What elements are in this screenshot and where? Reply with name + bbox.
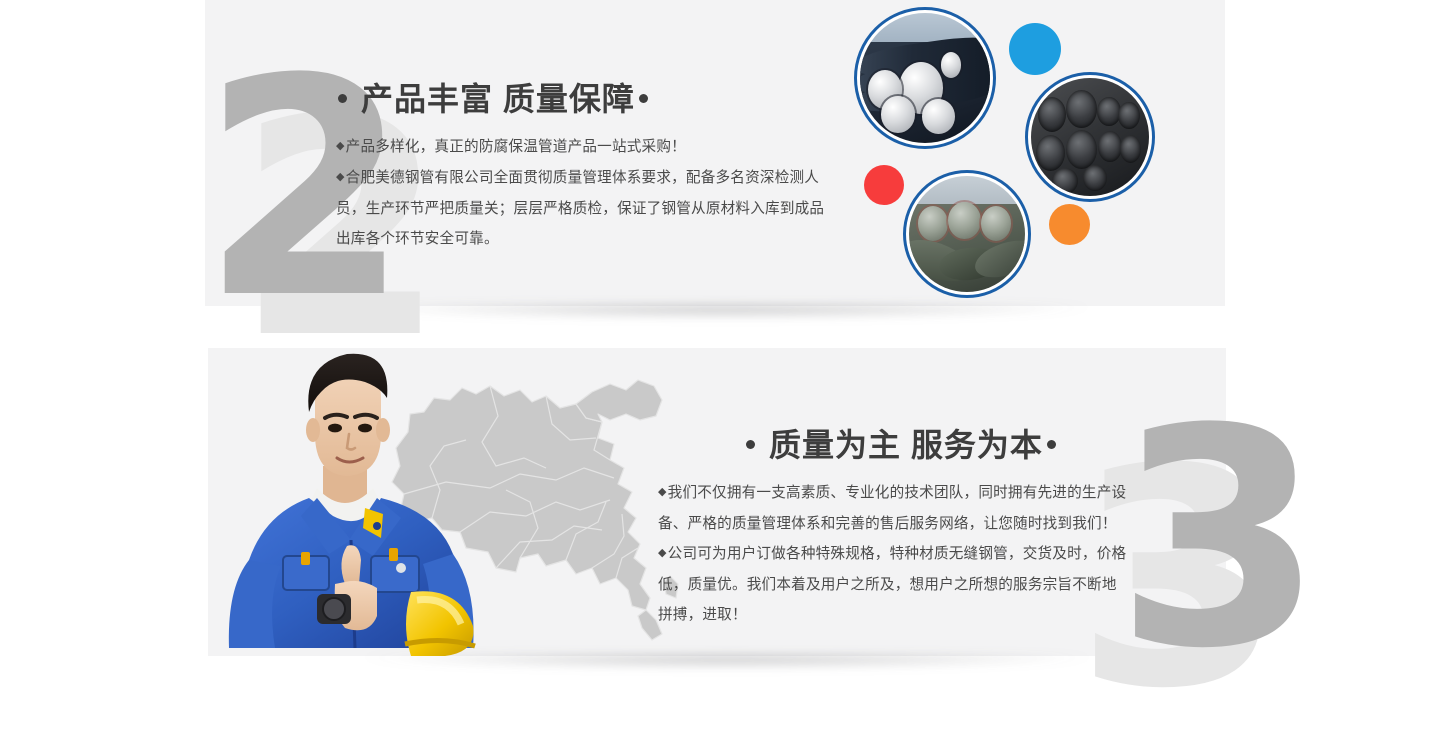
panel-1-headline: 产品丰富 质量保障	[338, 74, 648, 120]
headline-bullet-dot-left	[746, 440, 755, 449]
accent-dot-orange	[1049, 204, 1090, 245]
panel-1-paragraph-1-text: 产品多样化，真正的防腐保温管道产品一站式采购！	[346, 139, 686, 155]
pipe-illustration	[860, 13, 990, 143]
panel-1-paragraph-2-text: 合肥美德钢管有限公司全面贯彻质量管理体系要求，配备多名资深检测人员，生产环节严把…	[336, 170, 824, 247]
photo-circle-epoxy-coated-pipes-yard	[903, 170, 1031, 298]
diamond-bullet-icon: ◆	[336, 171, 345, 183]
diamond-bullet-icon: ◆	[658, 486, 667, 498]
headline-bullet-dot-right	[639, 94, 648, 103]
photo-circle-coated-steel-pipes-stack	[854, 7, 996, 149]
headline-bullet-dot-left	[338, 94, 347, 103]
panel-1-body: ◆产品多样化，真正的防腐保温管道产品一站式采购！ ◆合肥美德钢管有限公司全面贯彻…	[336, 132, 836, 254]
worker-engineer-photo	[205, 348, 505, 656]
panel-drop-shadow	[245, 306, 1205, 332]
photo-black-steel-pipes-bundle	[1031, 78, 1149, 196]
headline-bullet-dot-right	[1047, 440, 1056, 449]
panel-2-headline-text: 质量为主 服务为本	[769, 427, 1043, 463]
diamond-bullet-icon: ◆	[336, 140, 345, 152]
panel-2-headline: 质量为主 服务为本	[746, 420, 1056, 466]
panel-1-headline-text: 产品丰富 质量保障	[361, 81, 635, 117]
photo-epoxy-coated-pipes-yard	[909, 176, 1025, 292]
photo-circle-black-steel-pipes-bundle	[1025, 72, 1155, 202]
accent-dot-red	[864, 165, 904, 205]
photo-coated-steel-pipes-stack	[860, 13, 990, 143]
panel-1-paragraph-1: ◆产品多样化，真正的防腐保温管道产品一站式采购！	[336, 132, 836, 163]
accent-dot-blue	[1009, 23, 1061, 75]
panel-2-body: ◆我们不仅拥有一支高素质、专业化的技术团队，同时拥有先进的生产设备、严格的质量管…	[658, 478, 1128, 630]
pipe-illustration	[909, 176, 1025, 292]
panel-drop-shadow	[248, 656, 1206, 682]
panel-1-paragraph-2: ◆合肥美德钢管有限公司全面贯彻质量管理体系要求，配备多名资深检测人员，生产环节严…	[336, 163, 836, 254]
pipe-illustration	[1031, 78, 1149, 196]
panel-2-paragraph-1-text: 我们不仅拥有一支高素质、专业化的技术团队，同时拥有先进的生产设备、严格的质量管理…	[658, 485, 1126, 532]
diamond-bullet-icon: ◆	[658, 547, 667, 559]
panel-2-paragraph-1: ◆我们不仅拥有一支高素质、专业化的技术团队，同时拥有先进的生产设备、严格的质量管…	[658, 478, 1128, 539]
panel-2-paragraph-2-text: 公司可为用户订做各种特殊规格，特种材质无缝钢管，交货及时，价格低，质量优。我们本…	[658, 546, 1126, 623]
panel-2-paragraph-2: ◆公司可为用户订做各种特殊规格，特种材质无缝钢管，交货及时，价格低，质量优。我们…	[658, 539, 1128, 630]
